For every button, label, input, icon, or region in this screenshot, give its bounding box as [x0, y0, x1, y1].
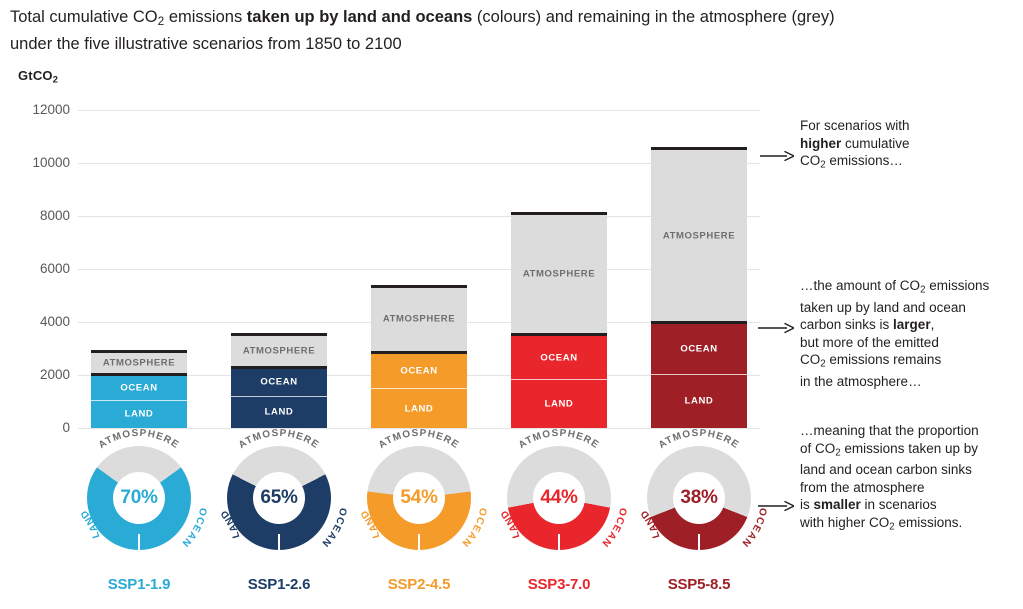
donut-center: 54%	[393, 472, 445, 524]
bar-segment-atmosphere: ATMOSPHERE	[91, 350, 187, 373]
note-line: For scenarios with	[800, 117, 1015, 135]
note-line: from the atmosphere	[800, 479, 1015, 497]
y-axis-tick-8000: 8000	[0, 208, 70, 223]
segment-label-atmosphere: ATMOSPHERE	[91, 358, 187, 369]
bar-segment-land: LAND	[91, 401, 187, 428]
chart-figure: Total cumulative CO2 emissions taken up …	[0, 0, 1023, 609]
scenario-label-ssp1-1.9: SSP1-1.9	[69, 576, 209, 593]
donut-percent-label: 54%	[400, 487, 437, 509]
donut-center: 70%	[113, 472, 165, 524]
scenario-label-ssp5-8.5: SSP5-8.5	[629, 576, 769, 593]
note-line: carbon sinks is larger,	[800, 316, 1015, 334]
note-line: is smaller in scenarios	[800, 496, 1015, 514]
note-line: with higher CO2 emissions.	[800, 514, 1015, 536]
segment-label-land: LAND	[651, 396, 747, 407]
bar-segment-land: LAND	[231, 397, 327, 428]
note-bottom: …meaning that the proportionof CO2 emiss…	[800, 422, 1015, 536]
bar-segment-ocean: OCEAN	[651, 321, 747, 374]
donut-ssp1-2.6[interactable]: 65%ATMOSPHERELANDOCEAN	[227, 446, 331, 550]
bar-ssp5-8.5[interactable]: ATMOSPHEREOCEANLAND	[651, 147, 747, 428]
segment-label-ocean: OCEAN	[511, 352, 607, 363]
y-axis-tick-2000: 2000	[0, 367, 70, 382]
annotation-arrow-icon	[758, 500, 794, 512]
segment-label-land: LAND	[91, 409, 187, 420]
y-axis-tick-4000: 4000	[0, 314, 70, 329]
note-top: For scenarios withhigher cumulativeCO2 e…	[800, 117, 1015, 174]
bar-segment-atmosphere: ATMOSPHERE	[231, 333, 327, 366]
note-line: higher cumulative	[800, 135, 1015, 153]
donut-percent-label: 70%	[120, 487, 157, 509]
scenario-label-ssp3-7.0: SSP3-7.0	[489, 576, 629, 593]
bar-segment-land: LAND	[511, 380, 607, 428]
segment-label-atmosphere: ATMOSPHERE	[231, 345, 327, 356]
segment-label-ocean: OCEAN	[371, 366, 467, 377]
donut-land-ocean-divider	[698, 534, 700, 550]
donut-land-ocean-divider	[558, 534, 560, 550]
donut-ssp2-4.5[interactable]: 54%ATMOSPHERELANDOCEAN	[367, 446, 471, 550]
note-middle: …the amount of CO2 emissionstaken up by …	[800, 277, 1015, 391]
note-line: CO2 emissions remains	[800, 351, 1015, 373]
bar-segment-ocean: OCEAN	[91, 373, 187, 400]
segment-label-atmosphere: ATMOSPHERE	[371, 314, 467, 325]
y-axis-tick-10000: 10000	[0, 155, 70, 170]
bar-segment-atmosphere: ATMOSPHERE	[651, 147, 747, 321]
donut-center: 38%	[673, 472, 725, 524]
note-line: …meaning that the proportion	[800, 422, 1015, 440]
y-axis-tick-6000: 6000	[0, 261, 70, 276]
note-line: CO2 emissions…	[800, 152, 1015, 174]
donut-ssp5-8.5[interactable]: 38%ATMOSPHERELANDOCEAN	[647, 446, 751, 550]
donut-percent-label: 65%	[260, 487, 297, 509]
donut-ssp1-1.9[interactable]: 70%ATMOSPHERELANDOCEAN	[87, 446, 191, 550]
donut-ssp3-7.0[interactable]: 44%ATMOSPHERELANDOCEAN	[507, 446, 611, 550]
donut-center: 65%	[253, 472, 305, 524]
note-line: but more of the emitted	[800, 334, 1015, 352]
bar-ssp3-7.0[interactable]: ATMOSPHEREOCEANLAND	[511, 212, 607, 428]
donut-land-ocean-divider	[418, 534, 420, 550]
donut-percent-label: 38%	[680, 487, 717, 509]
note-line: taken up by land and ocean	[800, 299, 1015, 317]
bar-segment-land: LAND	[371, 389, 467, 428]
scenario-label-ssp1-2.6: SSP1-2.6	[209, 576, 349, 593]
plot-area: 020004000600080001000012000ATMOSPHEREOCE…	[0, 0, 1023, 609]
annotation-arrow-icon	[760, 150, 794, 162]
segment-label-land: LAND	[371, 403, 467, 414]
gridline-0	[78, 428, 760, 429]
y-axis-tick-12000: 12000	[0, 102, 70, 117]
segment-label-ocean: OCEAN	[91, 382, 187, 393]
segment-label-atmosphere: ATMOSPHERE	[651, 230, 747, 241]
note-line: land and ocean carbon sinks	[800, 461, 1015, 479]
bar-segment-ocean: OCEAN	[511, 333, 607, 381]
bar-ssp1-2.6[interactable]: ATMOSPHEREOCEANLAND	[231, 333, 327, 428]
y-axis-tick-0: 0	[0, 420, 70, 435]
segment-label-ocean: OCEAN	[651, 343, 747, 354]
scenario-label-ssp2-4.5: SSP2-4.5	[349, 576, 489, 593]
bar-segment-land: LAND	[651, 375, 747, 428]
donut-land-ocean-divider	[138, 534, 140, 550]
bar-ssp1-1.9[interactable]: ATMOSPHEREOCEANLAND	[91, 350, 187, 428]
bar-segment-ocean: OCEAN	[371, 351, 467, 390]
segment-label-atmosphere: ATMOSPHERE	[511, 268, 607, 279]
note-line: …the amount of CO2 emissions	[800, 277, 1015, 299]
segment-label-land: LAND	[231, 407, 327, 418]
segment-label-ocean: OCEAN	[231, 377, 327, 388]
bar-segment-atmosphere: ATMOSPHERE	[511, 212, 607, 333]
donut-center: 44%	[533, 472, 585, 524]
gridline-12000	[78, 110, 760, 111]
bar-ssp2-4.5[interactable]: ATMOSPHEREOCEANLAND	[371, 285, 467, 428]
note-line: in the atmosphere…	[800, 373, 1015, 391]
bar-segment-ocean: OCEAN	[231, 366, 327, 397]
annotation-arrow-icon	[758, 322, 794, 334]
note-line: of CO2 emissions taken up by	[800, 440, 1015, 462]
bar-segment-atmosphere: ATMOSPHERE	[371, 285, 467, 351]
donut-land-ocean-divider	[278, 534, 280, 550]
segment-label-land: LAND	[511, 399, 607, 410]
donut-percent-label: 44%	[540, 487, 577, 509]
